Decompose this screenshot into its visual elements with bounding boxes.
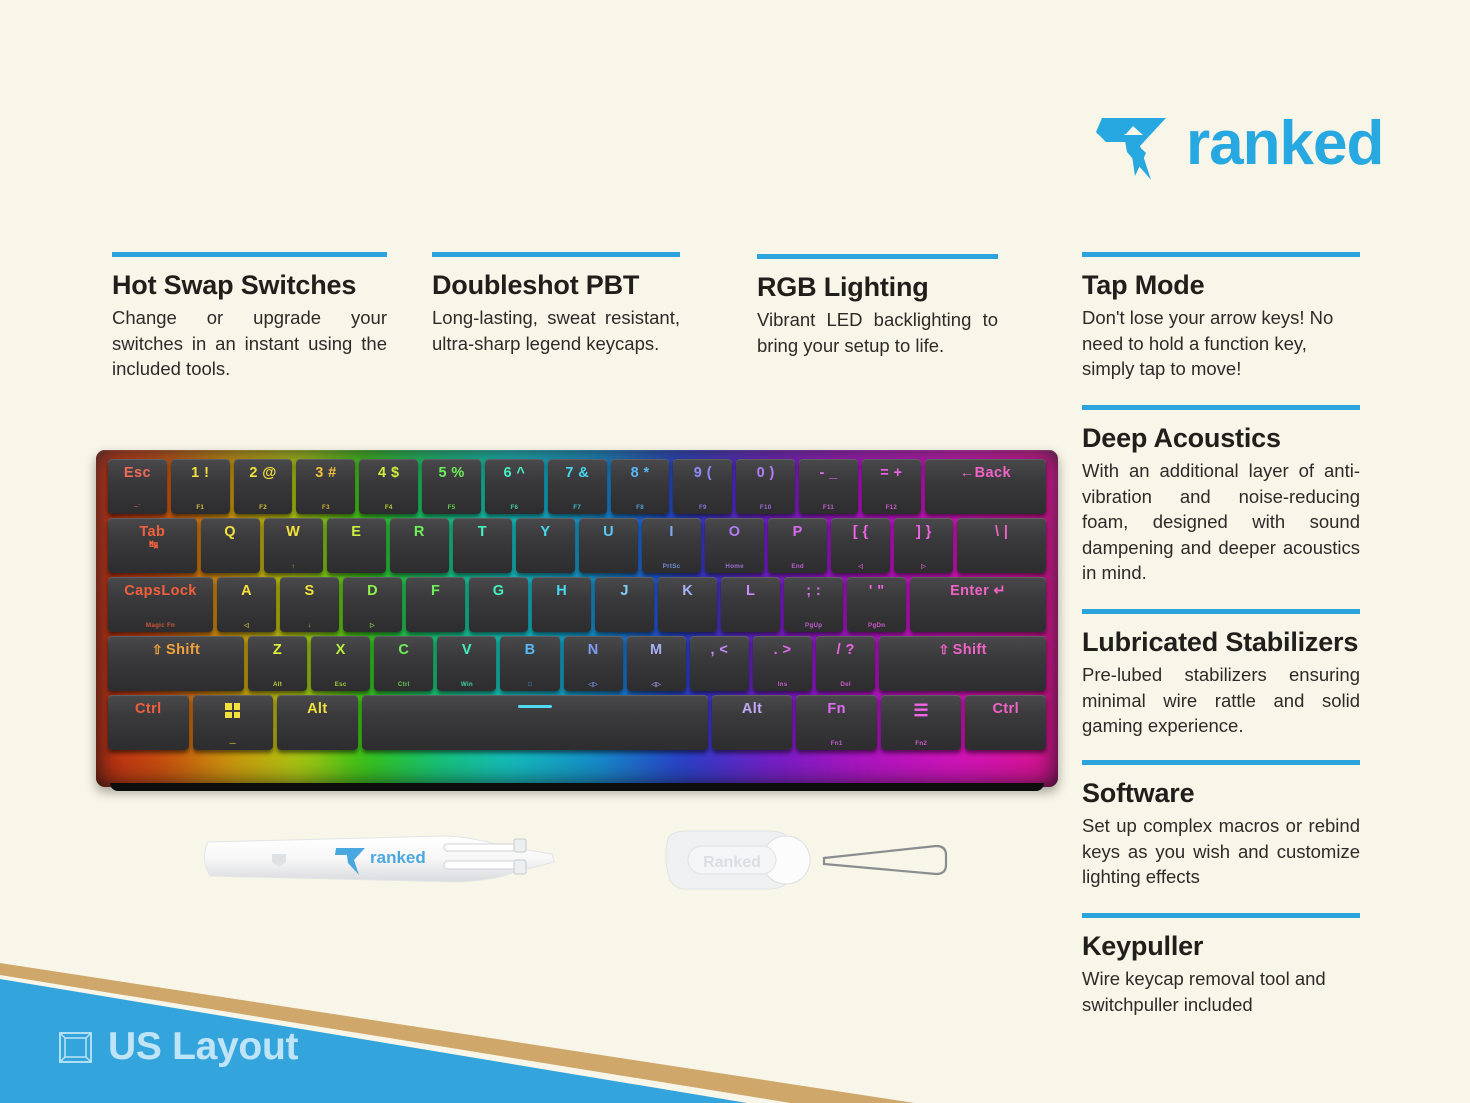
key-y[interactable]: Y xyxy=(516,518,575,573)
key-1[interactable]: 1 !F1 xyxy=(171,459,230,514)
key-key[interactable]: = +F12 xyxy=(862,459,921,514)
key-legend: Q xyxy=(224,525,236,540)
key-legend: [ { xyxy=(853,525,869,540)
key-key[interactable]: - _F11 xyxy=(799,459,858,514)
keyboard-product-image: Esc~`1 !F12 @F23 #F34 $F45 %F56 ^F67 &F7… xyxy=(96,450,1058,787)
key-spacebar-icon[interactable] xyxy=(362,695,708,750)
key-back[interactable]: ←Back xyxy=(925,459,1046,514)
key-sublegend: Magic Fn xyxy=(108,623,213,629)
feature-doubleshot-pbt: Doubleshot PBT Long-lasting, sweat resis… xyxy=(432,252,680,356)
feature-rgb-lighting: RGB Lighting Vibrant LED backlighting to… xyxy=(757,254,998,358)
key-legend: M xyxy=(650,643,662,658)
windows-icon xyxy=(225,703,240,718)
key-a[interactable]: A◁ xyxy=(217,577,276,632)
key-sublegend: F5 xyxy=(422,505,481,511)
key-legend: ; : xyxy=(806,584,821,599)
key-legend: Fn xyxy=(827,702,846,717)
key-sublegend: F1 xyxy=(171,505,230,511)
key-sublegend: Esc xyxy=(311,682,370,688)
key-legend: J xyxy=(620,584,628,599)
key-h[interactable]: H xyxy=(532,577,591,632)
key-j[interactable]: J xyxy=(595,577,654,632)
brand-logo: ranked xyxy=(1094,108,1383,180)
key-menu-key-icon[interactable]: ☰Fn2 xyxy=(881,695,962,750)
key-m[interactable]: M◁▷ xyxy=(627,636,686,691)
bottom-banner xyxy=(0,883,1470,1103)
accent-rule xyxy=(1082,252,1360,257)
key-legend: / ? xyxy=(837,643,855,658)
key-legend: 7 & xyxy=(565,466,589,481)
key-sublegend: PgDn xyxy=(847,623,906,629)
key-n[interactable]: N◁▷ xyxy=(564,636,623,691)
key-legend: 8 * xyxy=(631,466,650,481)
key-sublegend: ↑ xyxy=(264,564,323,570)
key-sublegend: Fn2 xyxy=(881,741,962,747)
key-legend: 1 ! xyxy=(191,466,209,481)
key-enter[interactable]: Enter ↵ xyxy=(910,577,1046,632)
key-x[interactable]: XEsc xyxy=(311,636,370,691)
key-key[interactable]: ] }▷ xyxy=(894,518,953,573)
key-legend: Ctrl xyxy=(992,702,1019,717)
key-legend: 2 @ xyxy=(249,466,276,481)
feature-title: Lubricated Stabilizers xyxy=(1082,627,1360,657)
key-legend: A xyxy=(241,584,252,599)
key-key[interactable]: ' "PgDn xyxy=(847,577,906,632)
key-sublegend: F4 xyxy=(359,505,418,511)
key-sublegend: F6 xyxy=(485,505,544,511)
key-sublegend: ◁▷ xyxy=(627,682,686,688)
key-legend: L xyxy=(746,584,755,599)
tab-arrows-icon: ↹ xyxy=(149,540,159,551)
key-legend: CapsLock xyxy=(124,584,197,599)
keyboard-row: Tab↹QW↑ERTYUIPrtScOHomePEnd[ {◁] }▷\ | xyxy=(108,518,1046,573)
key-shift[interactable]: ⇧Shift xyxy=(108,636,244,691)
key-legend: X xyxy=(336,643,346,658)
key-key[interactable]: [ {◁ xyxy=(831,518,890,573)
key-sublegend: Ins xyxy=(753,682,812,688)
key-0[interactable]: 0 )F10 xyxy=(736,459,795,514)
feature-title: Software xyxy=(1082,778,1360,808)
key-b[interactable]: B□ xyxy=(500,636,559,691)
key-windows-icon[interactable]: — xyxy=(193,695,274,750)
key-legend: P xyxy=(793,525,803,540)
key-legend: V xyxy=(462,643,472,658)
key-legend: Alt xyxy=(307,702,328,717)
keyboard-row: Ctrl—AltAltFnFn1☰Fn2Ctrl xyxy=(108,695,1046,750)
key-alt[interactable]: Alt xyxy=(712,695,793,750)
key-i[interactable]: IPrtSc xyxy=(642,518,701,573)
key-g[interactable]: G xyxy=(469,577,528,632)
key-sublegend: ↓ xyxy=(280,623,339,629)
feature-body: With an additional layer of anti-vibrati… xyxy=(1082,458,1360,586)
key-v[interactable]: VWin xyxy=(437,636,496,691)
key-sublegend: F12 xyxy=(862,505,921,511)
key-sublegend: Del xyxy=(816,682,875,688)
key-3[interactable]: 3 #F3 xyxy=(296,459,355,514)
key-legend: H xyxy=(556,584,567,599)
key-r[interactable]: R xyxy=(390,518,449,573)
accent-rule xyxy=(1082,609,1360,614)
key-d[interactable]: D▷ xyxy=(343,577,402,632)
feature-body: Long-lasting, sweat resistant, ultra-sha… xyxy=(432,305,680,356)
key-z[interactable]: ZAlt xyxy=(248,636,307,691)
key-key[interactable]: . >Ins xyxy=(753,636,812,691)
feature-title: Hot Swap Switches xyxy=(112,270,387,300)
key-9[interactable]: 9 (F9 xyxy=(673,459,732,514)
key-sublegend: F8 xyxy=(611,505,670,511)
key-sublegend: F11 xyxy=(799,505,858,511)
keyboard-row: CapsLockMagic FnA◁S↓D▷FGHJKL; :PgUp' "Pg… xyxy=(108,577,1046,632)
key-sublegend: F9 xyxy=(673,505,732,511)
key-7[interactable]: 7 &F7 xyxy=(548,459,607,514)
key-legend: K xyxy=(682,584,693,599)
accent-rule xyxy=(757,254,998,259)
key-legend: Ctrl xyxy=(135,702,162,717)
key-u[interactable]: U xyxy=(579,518,638,573)
key-legend: D xyxy=(367,584,378,599)
key-legend: 0 ) xyxy=(757,466,775,481)
key-ctrl[interactable]: Ctrl xyxy=(965,695,1046,750)
key-legend: 3 # xyxy=(315,466,336,481)
feature-body: Change or upgrade your switches in an in… xyxy=(112,305,387,382)
key-sublegend: F7 xyxy=(548,505,607,511)
key-sublegend: Fn1 xyxy=(796,741,877,747)
key-legend: - _ xyxy=(819,466,837,481)
key-legend: F xyxy=(431,584,440,599)
keyboard-base-shadow xyxy=(110,783,1044,791)
key-legend: 9 ( xyxy=(694,466,712,481)
key-legend: Enter ↵ xyxy=(950,584,1006,599)
key-key[interactable]: ; :PgUp xyxy=(784,577,843,632)
key-sublegend: ~` xyxy=(108,505,167,511)
key-sublegend: Alt xyxy=(248,682,307,688)
key-alt[interactable]: Alt xyxy=(277,695,358,750)
accent-rule xyxy=(1082,760,1360,765)
key-legend: Shift xyxy=(166,643,200,658)
feature-hot-swap-switches: Hot Swap Switches Change or upgrade your… xyxy=(112,252,387,382)
key-legend: Esc xyxy=(124,466,151,481)
key-sublegend: F10 xyxy=(736,505,795,511)
key-legend: S xyxy=(305,584,315,599)
key-sublegend: End xyxy=(768,564,827,570)
key-4[interactable]: 4 $F4 xyxy=(359,459,418,514)
key-l[interactable]: L xyxy=(721,577,780,632)
key-f[interactable]: F xyxy=(406,577,465,632)
key-legend: . > xyxy=(774,643,792,658)
key-legend: E xyxy=(351,525,361,540)
feature-lubricated-stabilizers: Lubricated Stabilizers Pre-lubed stabili… xyxy=(1082,609,1360,739)
key-key[interactable]: / ?Del xyxy=(816,636,875,691)
key-2[interactable]: 2 @F2 xyxy=(234,459,293,514)
key-legend: 6 ^ xyxy=(504,466,526,481)
spacebar-icon xyxy=(518,705,552,708)
key-s[interactable]: S↓ xyxy=(280,577,339,632)
key-5[interactable]: 5 %F5 xyxy=(422,459,481,514)
key-tab[interactable]: Tab↹ xyxy=(108,518,197,573)
key-legend: ←Back xyxy=(960,466,1011,481)
key-esc[interactable]: Esc~` xyxy=(108,459,167,514)
key-legend: U xyxy=(603,525,614,540)
svg-text:ranked: ranked xyxy=(370,848,426,867)
feature-software: Software Set up complex macros or rebind… xyxy=(1082,760,1360,890)
keyboard-row: Esc~`1 !F12 @F23 #F34 $F45 %F56 ^F67 &F7… xyxy=(108,459,1046,514)
shift-up-icon: ⇧ xyxy=(152,643,163,656)
shift-up-icon: ⇧ xyxy=(938,643,949,656)
key-sublegend: PrtSc xyxy=(642,564,701,570)
key-legend: Z xyxy=(273,643,282,658)
key-w[interactable]: W↑ xyxy=(264,518,323,573)
key-legend: T xyxy=(478,525,487,540)
key-sublegend: Win xyxy=(437,682,496,688)
key-legend: I xyxy=(669,525,673,540)
key-shift[interactable]: ⇧Shift xyxy=(879,636,1046,691)
key-c[interactable]: CCtrl xyxy=(374,636,433,691)
layout-badge-label: US Layout xyxy=(108,1025,298,1069)
accent-rule xyxy=(112,252,387,257)
feature-title: Tap Mode xyxy=(1082,270,1360,300)
key-legend: Tab xyxy=(139,525,165,540)
key-t[interactable]: T xyxy=(453,518,512,573)
key-legend: O xyxy=(729,525,741,540)
key-legend: ] } xyxy=(916,525,932,540)
key-legend: 5 % xyxy=(438,466,464,481)
accent-rule xyxy=(1082,405,1360,410)
key-legend: \ | xyxy=(995,525,1008,540)
key-sublegend: ▷ xyxy=(343,623,402,629)
key-sublegend: ◁ xyxy=(217,623,276,629)
key-sublegend: □ xyxy=(500,682,559,688)
key-legend: = + xyxy=(880,466,902,481)
key-sublegend: — xyxy=(193,741,274,747)
keyboard-case: Esc~`1 !F12 @F23 #F34 $F45 %F56 ^F67 &F7… xyxy=(96,450,1058,787)
feature-body: Don't lose your arrow keys! No need to h… xyxy=(1082,305,1360,382)
switch-puller-tool: ranked xyxy=(196,828,566,890)
key-sublegend: F3 xyxy=(296,505,355,511)
feature-title: Doubleshot PBT xyxy=(432,270,680,300)
menu-key-icon: ☰ xyxy=(913,702,929,719)
key-legend: C xyxy=(398,643,409,658)
key-sublegend: Home xyxy=(705,564,764,570)
key-q[interactable]: Q xyxy=(201,518,260,573)
key-sublegend: Ctrl xyxy=(374,682,433,688)
key-sublegend: ◁ xyxy=(831,564,890,570)
keyboard-row: ⇧ShiftZAltXEscCCtrlVWinB□N◁▷M◁▷, <. >Ins… xyxy=(108,636,1046,691)
key-legend: Y xyxy=(540,525,550,540)
key-8[interactable]: 8 *F8 xyxy=(611,459,670,514)
keycap-cube-icon xyxy=(58,1029,94,1065)
page-root: ranked Hot Swap Switches Change or upgra… xyxy=(0,0,1470,1103)
key-legend: Shift xyxy=(953,643,987,658)
keyboard-key-rows: Esc~`1 !F12 @F23 #F34 $F45 %F56 ^F67 &F7… xyxy=(106,459,1048,750)
key-key[interactable]: , < xyxy=(690,636,749,691)
key-fn[interactable]: FnFn1 xyxy=(796,695,877,750)
key-sublegend: PgUp xyxy=(784,623,843,629)
feature-deep-acoustics: Deep Acoustics With an additional layer … xyxy=(1082,405,1360,586)
feature-body: Pre-lubed stabilizers ensuring minimal w… xyxy=(1082,662,1360,739)
feature-body: Vibrant LED backlighting to bring your s… xyxy=(757,307,998,358)
key-k[interactable]: K xyxy=(658,577,717,632)
brand-wordmark: ranked xyxy=(1186,113,1383,175)
key-p[interactable]: PEnd xyxy=(768,518,827,573)
key-ctrl[interactable]: Ctrl xyxy=(108,695,189,750)
key-sublegend: ▷ xyxy=(894,564,953,570)
key-legend: ' " xyxy=(869,584,885,599)
feature-tap-mode: Tap Mode Don't lose your arrow keys! No … xyxy=(1082,252,1360,382)
key-legend: R xyxy=(414,525,425,540)
key-sublegend: ◁▷ xyxy=(564,682,623,688)
key-capslock[interactable]: CapsLockMagic Fn xyxy=(108,577,213,632)
key-e[interactable]: E xyxy=(327,518,386,573)
key-o[interactable]: OHome xyxy=(705,518,764,573)
key-legend: 4 $ xyxy=(378,466,399,481)
key-legend: N xyxy=(588,643,599,658)
key-legend: Alt xyxy=(742,702,763,717)
feature-body: Set up complex macros or rebind keys as … xyxy=(1082,813,1360,890)
key-legend: , < xyxy=(711,643,729,658)
accent-rule xyxy=(432,252,680,257)
ranked-chevron-logo-icon xyxy=(1094,108,1172,180)
key-6[interactable]: 6 ^F6 xyxy=(485,459,544,514)
key-legend: G xyxy=(493,584,505,599)
key-legend: W xyxy=(286,525,300,540)
layout-badge: US Layout xyxy=(58,1025,298,1069)
key-key[interactable]: \ | xyxy=(957,518,1046,573)
svg-text:Ranked: Ranked xyxy=(703,854,761,871)
feature-title: RGB Lighting xyxy=(757,272,998,302)
feature-title: Deep Acoustics xyxy=(1082,423,1360,453)
key-sublegend: F2 xyxy=(234,505,293,511)
key-legend: B xyxy=(525,643,536,658)
